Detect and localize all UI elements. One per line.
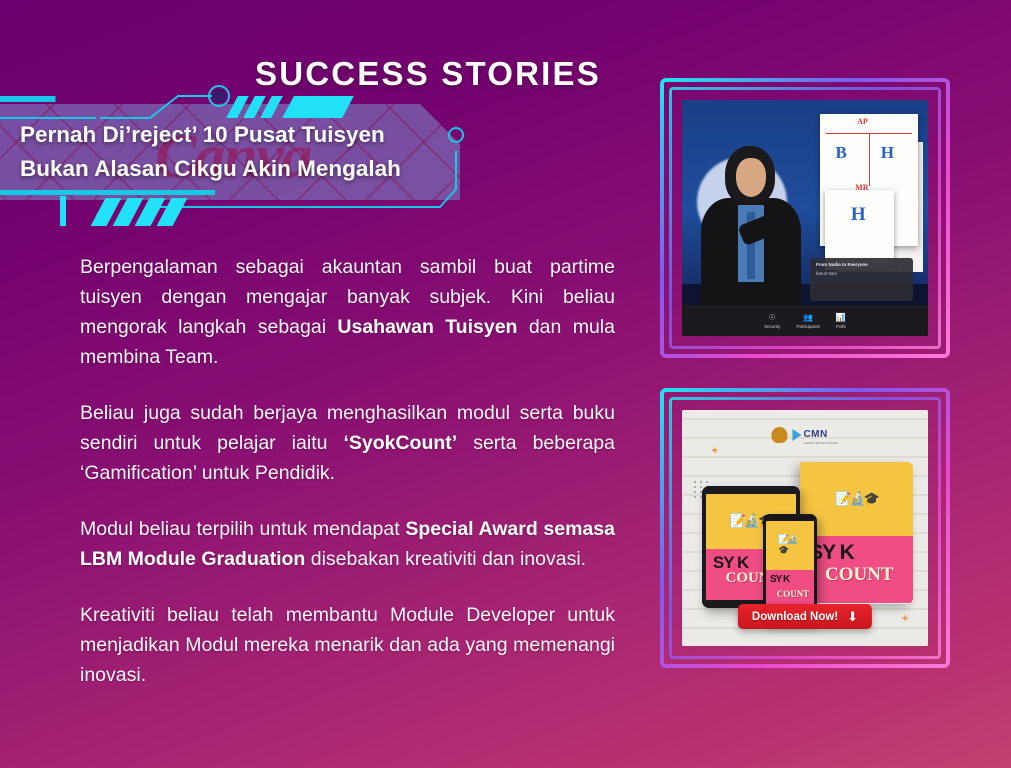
paragraph-1: Berpengalaman sebagai akauntan sambil bu… (80, 252, 615, 372)
phone-title: SY K (770, 574, 789, 585)
p3-seg3: disebakan kreativiti dan inovasi. (305, 548, 586, 570)
zoom-toolbar-participants[interactable]: 👥 Participants (796, 313, 820, 329)
download-arrow-icon: ⬇ (847, 610, 858, 623)
book-subtitle: COUNT (825, 564, 894, 586)
cmn-logo-subtext: CERDIK MINDA NURANI (803, 442, 838, 445)
p3-seg1: Modul beliau terpilih untuk mendapat (80, 518, 405, 540)
product-mockup-photo: + + + CMN CERDIK MINDA NURANI (682, 410, 928, 646)
paper-letter-h: H (881, 143, 894, 163)
zoom-toolbar-polls-label: Polls (836, 324, 846, 329)
plus-accent-3-icon: + (902, 613, 908, 625)
zoom-toolbar[interactable]: ☉ Security 👥 Participants 📊 Polls (682, 305, 928, 336)
chat-title: From Nadia to Everyone (816, 262, 907, 267)
download-now-label: Download Now! (752, 611, 838, 623)
zoom-chat-popup: From Nadia to Everyone betul! 8am (810, 258, 913, 300)
paragraph-3: Modul beliau terpilih untuk mendapat Spe… (80, 514, 615, 574)
phone-art-icon: 📝🔬🎓 (778, 534, 802, 556)
paper-letter-h2: H (851, 204, 866, 226)
cmn-logo: CMN CERDIK MINDA NURANI (792, 424, 838, 445)
paper-label-ap: AP (857, 117, 868, 126)
p1-seg2: Usahawan Tuisyen (337, 316, 517, 338)
download-now-button[interactable]: Download Now! ⬇ (738, 604, 872, 629)
cmn-logo-text: CMN (803, 429, 827, 440)
zoom-toolbar-security-label: Security (764, 324, 780, 329)
story-body: Berpengalaman sebagai akauntan sambil bu… (80, 252, 615, 690)
hud-line-bottom (0, 190, 215, 195)
phone-subtitle: COUNT (777, 589, 810, 599)
product-book: 📝🔬🎓 SY K COUNT (800, 462, 913, 604)
paper-letter-b: B (836, 143, 847, 163)
hud-slashes-top-icon (232, 96, 277, 118)
page-title: SUCCESS STORIES (255, 55, 601, 93)
paragraph-2: Beliau juga sudah berjaya menghasilkan m… (80, 398, 615, 488)
zoom-toolbar-participants-label: Participants (796, 324, 820, 329)
book-art-icon: 📝🔬🎓 (835, 491, 878, 507)
paragraph-4: Kreativiti beliau telah membantu Module … (80, 600, 615, 690)
bee-mascot-icon (771, 427, 787, 443)
hud-bar-top-icon (282, 96, 354, 118)
participants-icon: 👥 (803, 313, 813, 322)
p2-seg2: ‘SyokCount’ (343, 432, 457, 454)
photo-frame-zoom-class: CMN EL T2- B/ AP B H MR H (660, 78, 950, 358)
zoom-class-photo: CMN EL T2- B/ AP B H MR H (682, 100, 928, 336)
polls-icon: 📊 (836, 313, 846, 322)
hud-slashes-bottom-icon (98, 198, 180, 226)
play-triangle-icon (792, 429, 801, 441)
plus-accent-1-icon: + (712, 445, 718, 457)
teacher-figure (697, 143, 805, 318)
hud-node-circle-right-icon (448, 127, 464, 143)
chat-body: betul! 8am (816, 271, 907, 276)
p4-seg1: Kreativiti beliau telah membantu Module … (80, 604, 615, 686)
shield-icon: ☉ (769, 313, 776, 322)
hud-node-circle-icon (208, 85, 230, 107)
photo-frame-product: + + + CMN CERDIK MINDA NURANI (660, 388, 950, 668)
brand-logos: CMN CERDIK MINDA NURANI (771, 424, 838, 445)
zoom-toolbar-polls[interactable]: 📊 Polls (836, 313, 846, 329)
zoom-toolbar-security[interactable]: ☉ Security (764, 313, 780, 329)
